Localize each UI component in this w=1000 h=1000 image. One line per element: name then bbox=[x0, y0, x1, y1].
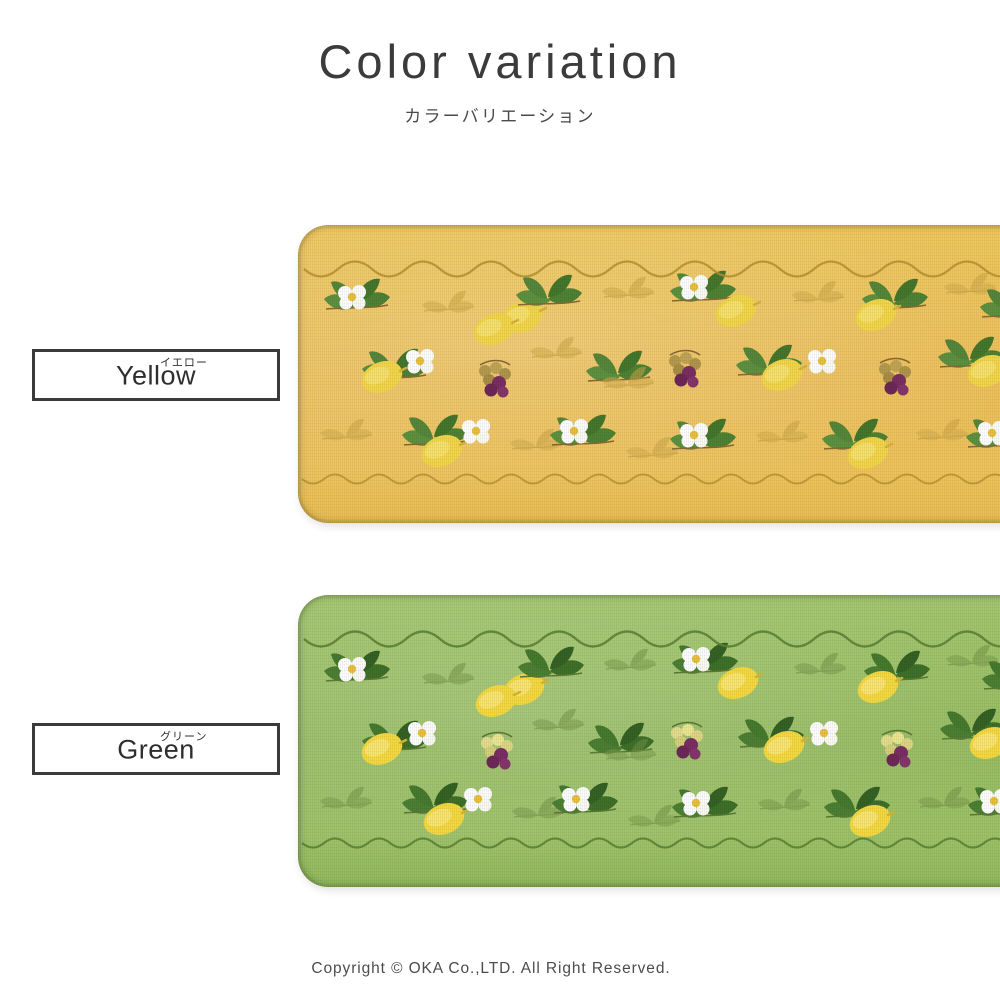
color-label-box-yellow[interactable]: イエロー Yellow bbox=[32, 349, 280, 401]
rug-swatch-green[interactable] bbox=[298, 595, 1000, 887]
color-label-box-green[interactable]: グリーン Green bbox=[32, 723, 280, 775]
rug-weave-texture-yellow bbox=[298, 225, 1000, 523]
color-label-name-green: Green bbox=[35, 735, 277, 766]
page-header: Color variation カラーバリエーション bbox=[0, 34, 1000, 127]
color-variation-page: Color variation カラーバリエーション イエロー Yellow bbox=[0, 0, 1000, 1000]
rug-weave-texture-green bbox=[298, 595, 1000, 887]
color-row-yellow: イエロー Yellow bbox=[0, 225, 1000, 525]
page-title: Color variation bbox=[0, 34, 1000, 89]
color-row-green: グリーン Green bbox=[0, 595, 1000, 887]
copyright-text: Copyright © OKA Co.,LTD. All Right Reser… bbox=[311, 960, 670, 977]
color-label-name-yellow: Yellow bbox=[35, 361, 277, 392]
page-subtitle: カラーバリエーション bbox=[0, 102, 1000, 127]
rug-swatch-yellow[interactable] bbox=[298, 225, 1000, 523]
page-footer: Copyright © OKA Co.,LTD. All Right Reser… bbox=[0, 960, 1000, 978]
